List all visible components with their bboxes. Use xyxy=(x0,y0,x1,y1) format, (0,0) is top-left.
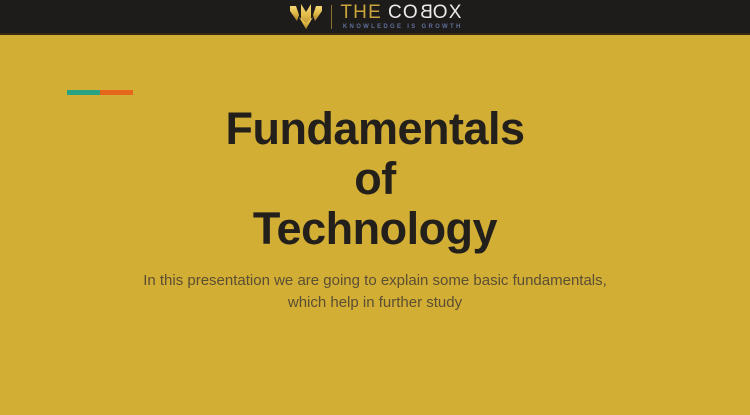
title-line-3: Technology xyxy=(0,204,750,254)
title-line-1: Fundamentals xyxy=(0,104,750,154)
brand-wordmark: THE CO B OX KNOWLEDGE IS GROWTH xyxy=(340,3,462,30)
subtitle-line-1: In this presentation we are going to exp… xyxy=(0,270,750,292)
brand-b-text: B xyxy=(419,3,433,22)
brand-ox-text: OX xyxy=(433,3,463,22)
accent-bar-orange-segment xyxy=(100,90,133,95)
slide-title: Fundamentals of Technology xyxy=(0,104,750,254)
accent-bar-teal-segment xyxy=(67,90,100,95)
slide-subtitle: In this presentation we are going to exp… xyxy=(0,270,750,314)
cobox-crown-emblem-icon xyxy=(287,2,325,32)
brand-the-text: THE xyxy=(340,3,382,22)
brand-name-row: THE CO B OX xyxy=(340,3,462,22)
presentation-slide: THE CO B OX KNOWLEDGE IS GROWTH Fundamen… xyxy=(0,0,750,415)
brand-logo[interactable]: THE CO B OX KNOWLEDGE IS GROWTH xyxy=(287,0,462,33)
subtitle-line-2: which help in further study xyxy=(0,292,750,314)
title-line-2: of xyxy=(0,154,750,204)
brand-tagline: KNOWLEDGE IS GROWTH xyxy=(340,24,462,30)
brand-divider xyxy=(331,5,332,29)
header-bar: THE CO B OX KNOWLEDGE IS GROWTH xyxy=(0,0,750,35)
brand-co-text: CO xyxy=(388,3,419,22)
accent-bar xyxy=(67,90,133,95)
